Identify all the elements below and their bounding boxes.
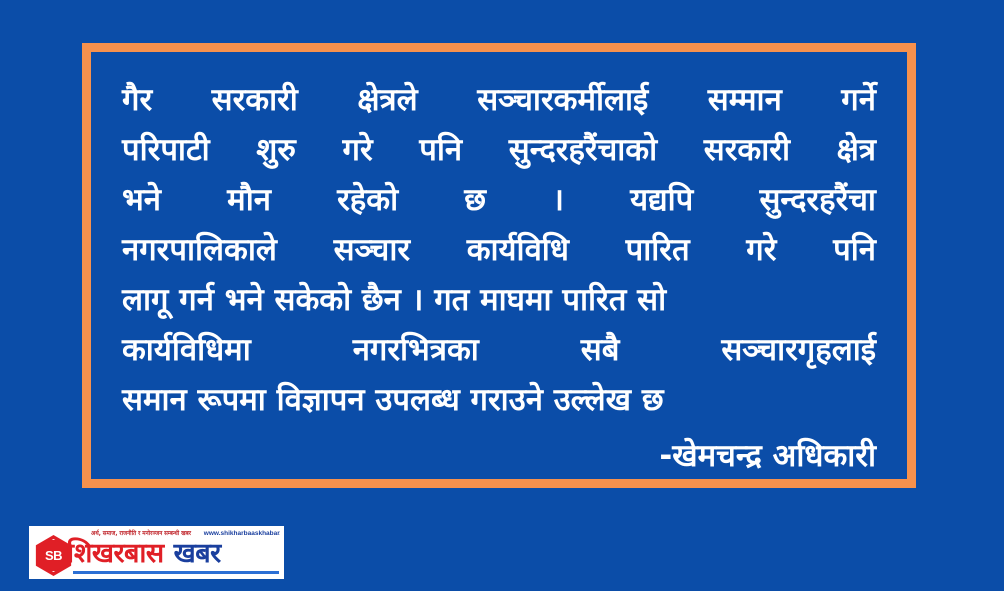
quote-word: पनि	[419, 125, 462, 175]
quote-line-2: परिपाटीशुरुगरेपनिसुन्दरहरैंचाकोसरकारीक्ष…	[122, 125, 876, 175]
quote-text-container: गैरसरकारीक्षेत्रलेसञ्चारकर्मीलाईसम्मानगर…	[100, 61, 898, 470]
logo-underline-rule	[73, 571, 279, 574]
quote-word: भने	[122, 175, 161, 225]
sb-hexagon-inner: SB	[37, 539, 70, 572]
logo-wordmark-primary: शिखरबास	[67, 539, 164, 569]
quote-line-7: समान रूपमा विज्ञापन उपलब्ध गराउने उल्लेख…	[122, 375, 876, 425]
quote-word: गरे	[746, 225, 776, 275]
quote-word: गैर	[122, 75, 152, 125]
quote-word: नगरपालिकाले	[122, 225, 277, 275]
quote-word: कार्यविधि	[467, 225, 569, 275]
quote-word: मौन	[227, 175, 271, 225]
quote-word: गरे	[343, 125, 373, 175]
quote-word: रहेको	[337, 175, 398, 225]
quote-word: सबै	[581, 325, 620, 375]
quote-word: परिपाटी	[122, 125, 210, 175]
quote-word: ।	[552, 175, 564, 225]
quote-frame: गैरसरकारीक्षेत्रलेसञ्चारकर्मीलाईसम्मानगर…	[82, 43, 916, 488]
quote-word: सरकारी	[704, 125, 790, 175]
site-logo[interactable]: अर्थ, समाज, राजनीति र मनोरञ्जन सम्बन्धी …	[29, 526, 284, 579]
quote-word: सुन्दरहरैंचा	[759, 175, 876, 225]
sb-monogram-text: SB	[45, 549, 62, 562]
quote-word: सञ्चारगृहलाई	[721, 325, 876, 375]
quote-word: यद्यपि	[630, 175, 693, 225]
quote-word: छ	[464, 175, 486, 225]
quote-word: शुरु	[256, 125, 296, 175]
quote-line-5: लागू गर्न भने सकेको छैन । गत माघमा पारित…	[122, 275, 876, 325]
quote-word: गर्ने	[841, 75, 876, 125]
quote-word: सञ्चारकर्मीलाई	[477, 75, 648, 125]
quote-word: सुन्दरहरैंचाको	[509, 125, 657, 175]
quote-line-4: नगरपालिकालेसञ्चारकार्यविधिपारितगरेपनि	[122, 225, 876, 275]
quote-word: पारित	[626, 225, 690, 275]
quote-word: नगरभित्रका	[353, 325, 479, 375]
quote-word: सरकारी	[212, 75, 298, 125]
logo-wordmark-secondary: खबर	[174, 539, 221, 569]
quote-word: क्षेत्रले	[357, 75, 417, 125]
logo-wordmark: शिखरबास खबर	[67, 537, 221, 571]
quote-attribution: -खेमचन्द्र अधिकारी	[122, 431, 876, 481]
quote-word: सञ्चार	[334, 225, 410, 275]
quote-card: गैरसरकारीक्षेत्रलेसञ्चारकर्मीलाईसम्मानगर…	[0, 0, 1004, 591]
quote-word: कार्यविधिमा	[122, 325, 251, 375]
quote-word: क्षेत्र	[837, 125, 876, 175]
quote-line-6: कार्यविधिमानगरभित्रकासबैसञ्चारगृहलाई	[122, 325, 876, 375]
quote-line-3: भनेमौनरहेकोछ।यद्यपिसुन्दरहरैंचा	[122, 175, 876, 225]
quote-line-1: गैरसरकारीक्षेत्रलेसञ्चारकर्मीलाईसम्मानगर…	[122, 75, 876, 125]
quote-word: सम्मान	[708, 75, 782, 125]
quote-word: पनि	[833, 225, 876, 275]
